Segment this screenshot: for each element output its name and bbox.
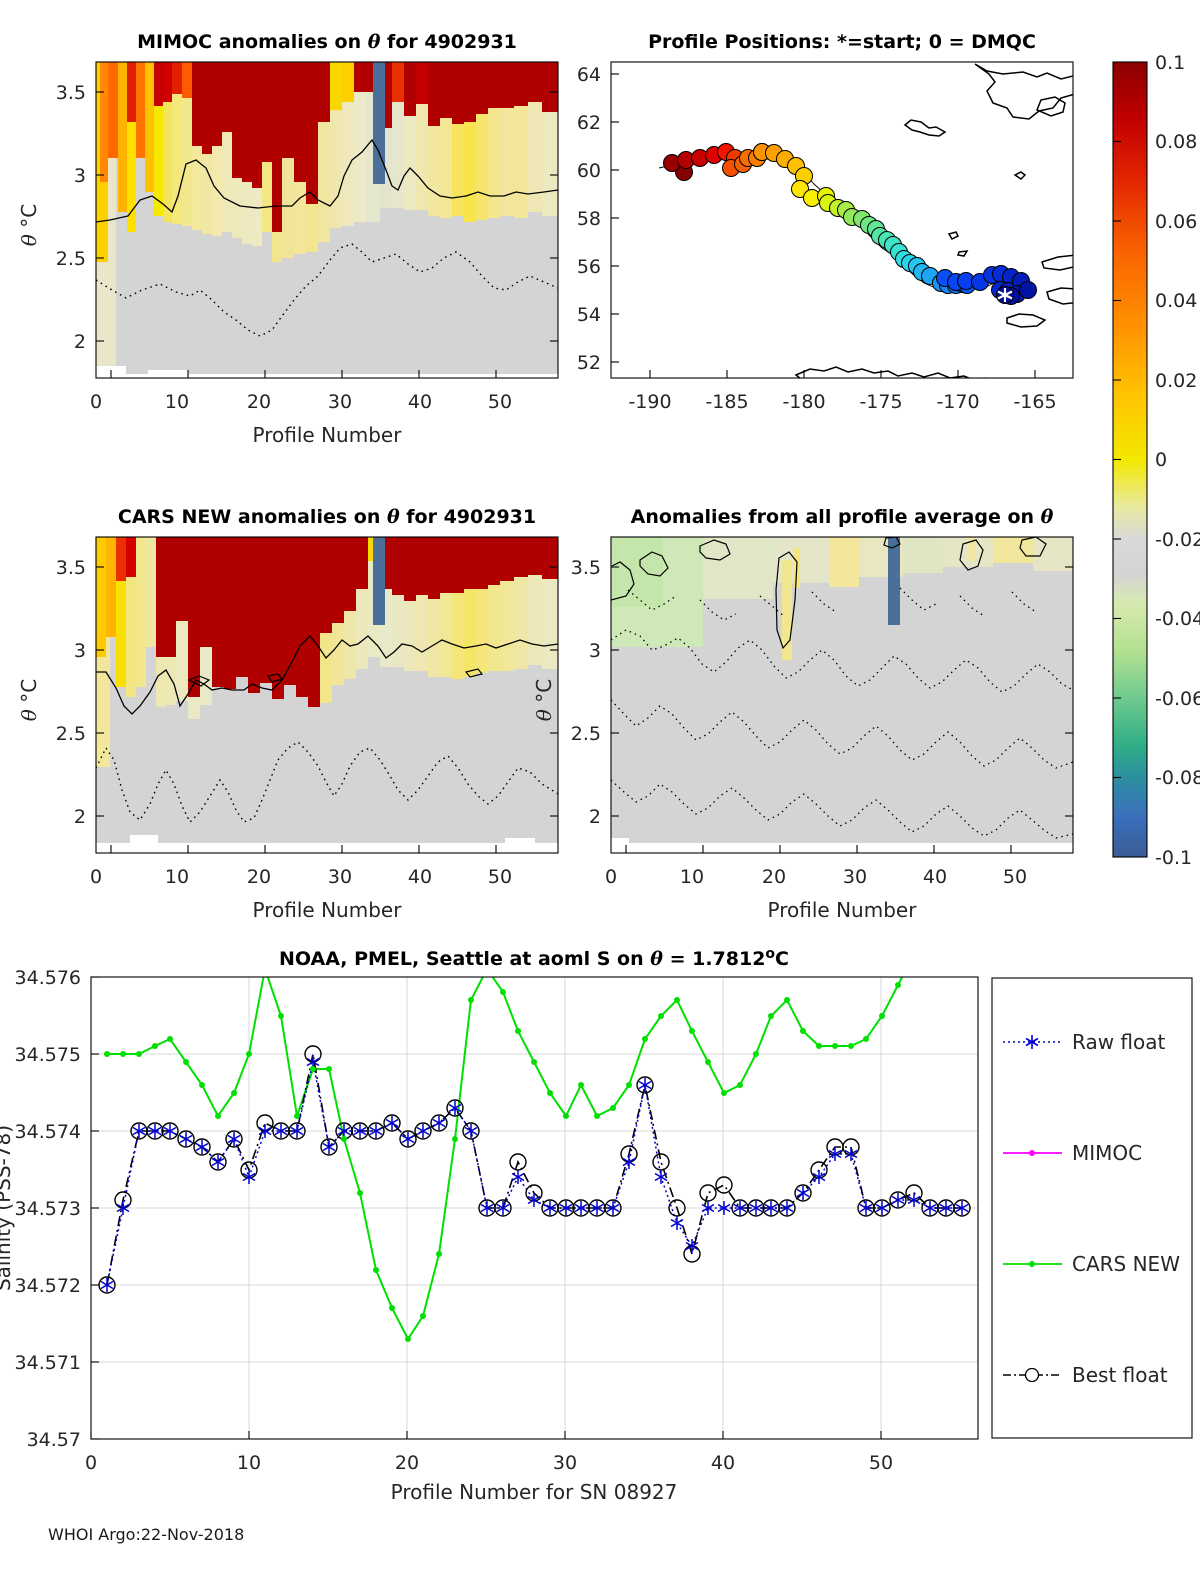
panel-map-title: Profile Positions: *=start; 0 = DMQC <box>648 31 1036 53</box>
ytick-label: 34.57 <box>27 1429 81 1451</box>
map-background <box>611 62 1073 378</box>
panel-allprof-xlabel: Profile Number <box>768 898 918 922</box>
ytick-label: 2.5 <box>56 723 86 745</box>
panel-map: Profile Positions: *=start; 0 = DMQC <box>577 31 1088 413</box>
panel-mimoc-title: MIMOC anomalies on θ for 4902931 <box>137 31 517 53</box>
ytick-label: 60 <box>577 160 601 182</box>
figure-root: MIMOC anomalies on θ for 4902931 <box>0 0 1200 1575</box>
ytick-label: 2 <box>589 806 601 828</box>
legend-label-best-float: Best float <box>1072 1363 1168 1387</box>
ytick-label: 3 <box>589 640 601 662</box>
dot-icon <box>1029 1150 1035 1156</box>
xtick-label: 50 <box>869 1452 893 1474</box>
ytick-label: 34.572 <box>15 1275 81 1297</box>
legend-label-mimoc: MIMOC <box>1072 1141 1142 1165</box>
ytick-label: 2 <box>74 331 86 353</box>
xtick-label: 20 <box>395 1452 419 1474</box>
xtick-label: 0 <box>90 391 102 413</box>
legend-label-raw-float: Raw float <box>1072 1030 1166 1054</box>
ytick-label: 58 <box>577 208 601 230</box>
timeseries-ylabel: Salinity (PSS-78) <box>0 1125 15 1291</box>
ytick-label: 34.575 <box>15 1044 81 1066</box>
colorbar-tick-label: 0.1 <box>1155 52 1185 74</box>
colorbar-tick-label: 0.06 <box>1155 211 1197 233</box>
xtick-label: 20 <box>762 866 786 888</box>
xtick-label: 40 <box>923 866 947 888</box>
ytick-label: 2 <box>74 806 86 828</box>
panel-cars-ylabel: θ °C <box>17 679 41 721</box>
panel-cars-title: CARS NEW anomalies on θ for 4902931 <box>118 506 536 528</box>
ytick-label: 34.576 <box>15 967 81 989</box>
ytick-label: 52 <box>577 352 601 374</box>
xtick-label: 30 <box>843 866 867 888</box>
panel-allprof-ylabel: θ °C <box>532 679 556 721</box>
timeseries-xlabel: Profile Number for SN 08927 <box>391 1480 678 1504</box>
colorbar-tick-label: 0 <box>1155 449 1167 471</box>
panel-allprof-title: Anomalies from all profile average on θ <box>631 506 1054 528</box>
ytick-label: 34.571 <box>15 1352 81 1374</box>
panel-mimoc-heatmap <box>96 62 558 378</box>
dot-icon <box>1029 1261 1035 1267</box>
panel-mimoc-ylabel: θ °C <box>17 204 41 246</box>
colorbar-tick-label: -0.1 <box>1155 847 1192 869</box>
ytick-label: 3.5 <box>571 557 601 579</box>
xtick-label: 30 <box>328 866 352 888</box>
xtick-label: -180 <box>782 391 825 413</box>
ytick-label: 62 <box>577 112 601 134</box>
xtick-label: 50 <box>1003 866 1027 888</box>
xtick-label: 50 <box>488 866 512 888</box>
timeseries-legend: Raw float MIMOC CARS NEW Best float <box>992 978 1192 1438</box>
xtick-label: 30 <box>328 391 352 413</box>
panel-allprof-heatmap <box>611 537 1073 853</box>
colorbar-tick-label: 0.08 <box>1155 131 1197 153</box>
ytick-label: 54 <box>577 304 601 326</box>
xtick-label: 40 <box>408 866 432 888</box>
timeseries-title: NOAA, PMEL, Seattle at aoml S on θ = 1.7… <box>279 946 789 970</box>
xtick-label: 0 <box>90 866 102 888</box>
xtick-label: 50 <box>488 391 512 413</box>
colorbar-tick-label: -0.04 <box>1155 608 1200 630</box>
ytick-label: 3.5 <box>56 557 86 579</box>
ytick-label: 64 <box>577 64 601 86</box>
xtick-label: 20 <box>247 391 271 413</box>
ytick-label: 3 <box>74 165 86 187</box>
xtick-label: -165 <box>1013 391 1056 413</box>
colorbar-tick-label: 0.02 <box>1155 370 1197 392</box>
colorbar-tick-label: 0.04 <box>1155 290 1197 312</box>
panel-cars-xlabel: Profile Number <box>253 898 403 922</box>
xtick-label: 40 <box>408 391 432 413</box>
xtick-label: 0 <box>605 866 617 888</box>
xtick-label: -185 <box>705 391 748 413</box>
ytick-label: 34.574 <box>15 1121 81 1143</box>
xtick-label: -190 <box>628 391 671 413</box>
ytick-label: 2.5 <box>56 248 86 270</box>
xtick-label: -170 <box>936 391 979 413</box>
figure-footer: WHOI Argo:22-Nov-2018 <box>48 1525 244 1544</box>
colorbar-tick-label: -0.08 <box>1155 767 1200 789</box>
xtick-label: 0 <box>85 1452 97 1474</box>
xtick-label: 10 <box>165 391 189 413</box>
panel-cars-heatmap <box>96 537 558 853</box>
ytick-label: 56 <box>577 256 601 278</box>
ytick-label: 3 <box>74 640 86 662</box>
xtick-label: -175 <box>859 391 902 413</box>
xtick-label: 10 <box>165 866 189 888</box>
panel-salinity-timeseries: NOAA, PMEL, Seattle at aoml S on θ = 1.7… <box>0 897 978 1504</box>
circle-icon <box>1026 1369 1039 1382</box>
ytick-label: 34.573 <box>15 1198 81 1220</box>
xtick-label: 10 <box>680 866 704 888</box>
ytick-label: 2.5 <box>571 723 601 745</box>
xtick-label: 40 <box>711 1452 735 1474</box>
xtick-label: 20 <box>247 866 271 888</box>
ytick-label: 3.5 <box>56 82 86 104</box>
panel-mimoc-xlabel: Profile Number <box>253 423 403 447</box>
xtick-label: 10 <box>237 1452 261 1474</box>
legend-label-cars-new: CARS NEW <box>1072 1252 1180 1276</box>
colorbar-tick-label: -0.06 <box>1155 688 1200 710</box>
xtick-label: 30 <box>553 1452 577 1474</box>
colorbar-tick-label: -0.02 <box>1155 529 1200 551</box>
